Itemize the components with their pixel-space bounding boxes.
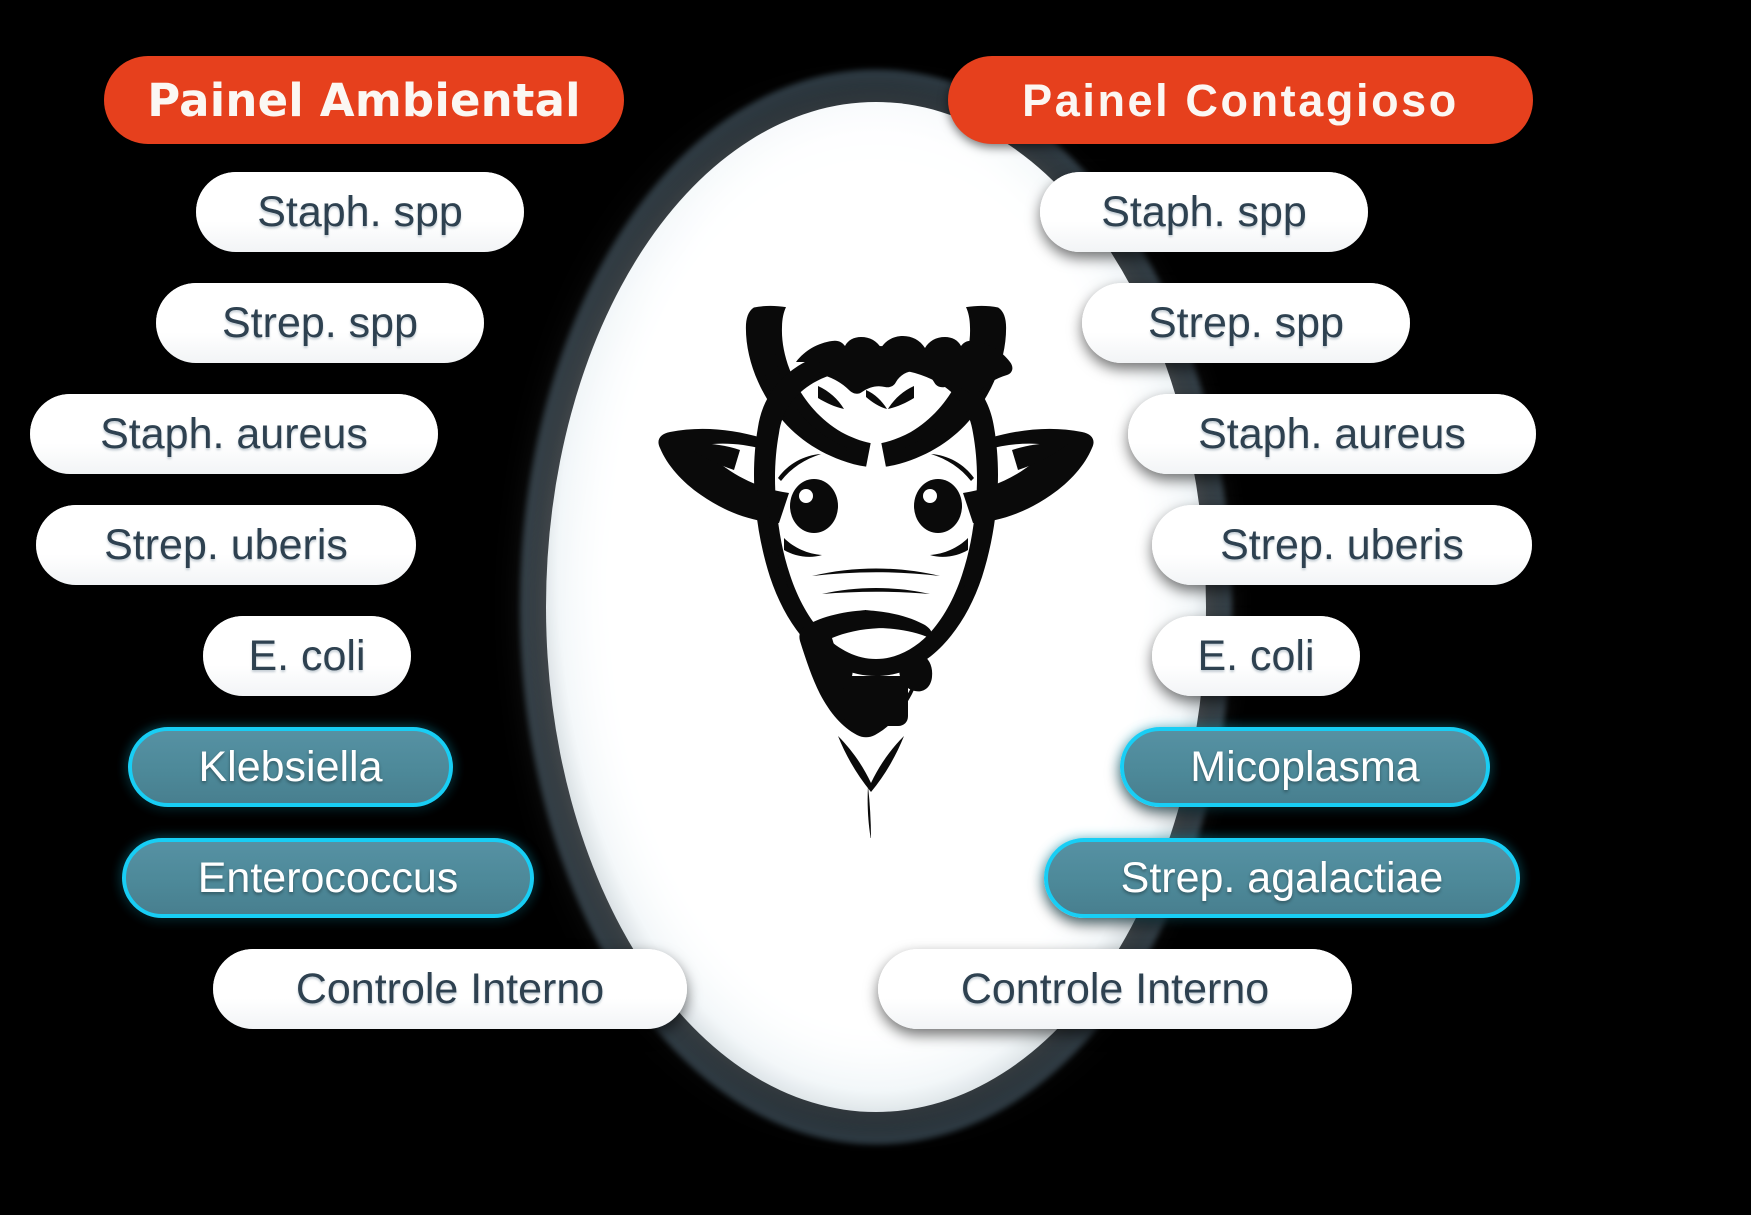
- pill-label: Micoplasma: [1190, 746, 1419, 789]
- pill-contagioso-5[interactable]: Micoplasma: [1120, 727, 1490, 807]
- panel-header-label: Painel Ambiental: [147, 78, 581, 123]
- pill-label: Strep. spp: [1148, 302, 1344, 345]
- pill-contagioso-2[interactable]: Staph. aureus: [1128, 394, 1536, 474]
- pill-label: Strep. spp: [222, 302, 418, 345]
- pill-contagioso-0[interactable]: Staph. spp: [1040, 172, 1368, 252]
- pill-contagioso-1[interactable]: Strep. spp: [1082, 283, 1410, 363]
- pill-label: Strep. uberis: [1220, 524, 1464, 567]
- panel-header-ambiental: Painel Ambiental: [104, 56, 624, 144]
- pill-contagioso-7[interactable]: Controle Interno: [878, 949, 1352, 1029]
- pill-label: Staph. aureus: [1198, 413, 1466, 456]
- pill-ambiental-6[interactable]: Enterococcus: [122, 838, 534, 918]
- pill-label: Controle Interno: [961, 968, 1269, 1011]
- pill-label: Klebsiella: [198, 746, 382, 789]
- pill-contagioso-4[interactable]: E. coli: [1152, 616, 1360, 696]
- panel-header-label: Painel Contagioso: [1022, 78, 1459, 123]
- pill-label: Staph. aureus: [100, 413, 368, 456]
- pill-label: E. coli: [1197, 635, 1314, 678]
- pill-label: Strep. agalactiae: [1121, 857, 1444, 900]
- pill-label: Staph. spp: [257, 191, 463, 234]
- pill-label: E. coli: [248, 635, 365, 678]
- infographic-canvas: Painel Ambiental Painel Contagioso Staph…: [0, 0, 1751, 1215]
- pill-label: Enterococcus: [198, 857, 459, 900]
- panel-header-contagioso: Painel Contagioso: [948, 56, 1533, 144]
- pill-ambiental-5[interactable]: Klebsiella: [128, 727, 453, 807]
- pill-label: Staph. spp: [1101, 191, 1307, 234]
- pill-ambiental-4[interactable]: E. coli: [203, 616, 411, 696]
- pill-contagioso-3[interactable]: Strep. uberis: [1152, 505, 1532, 585]
- pill-contagioso-6[interactable]: Strep. agalactiae: [1044, 838, 1520, 918]
- pill-ambiental-7[interactable]: Controle Interno: [213, 949, 687, 1029]
- pill-ambiental-0[interactable]: Staph. spp: [196, 172, 524, 252]
- pill-ambiental-3[interactable]: Strep. uberis: [36, 505, 416, 585]
- pill-ambiental-2[interactable]: Staph. aureus: [30, 394, 438, 474]
- pill-label: Controle Interno: [296, 968, 604, 1011]
- pill-ambiental-1[interactable]: Strep. spp: [156, 283, 484, 363]
- pill-label: Strep. uberis: [104, 524, 348, 567]
